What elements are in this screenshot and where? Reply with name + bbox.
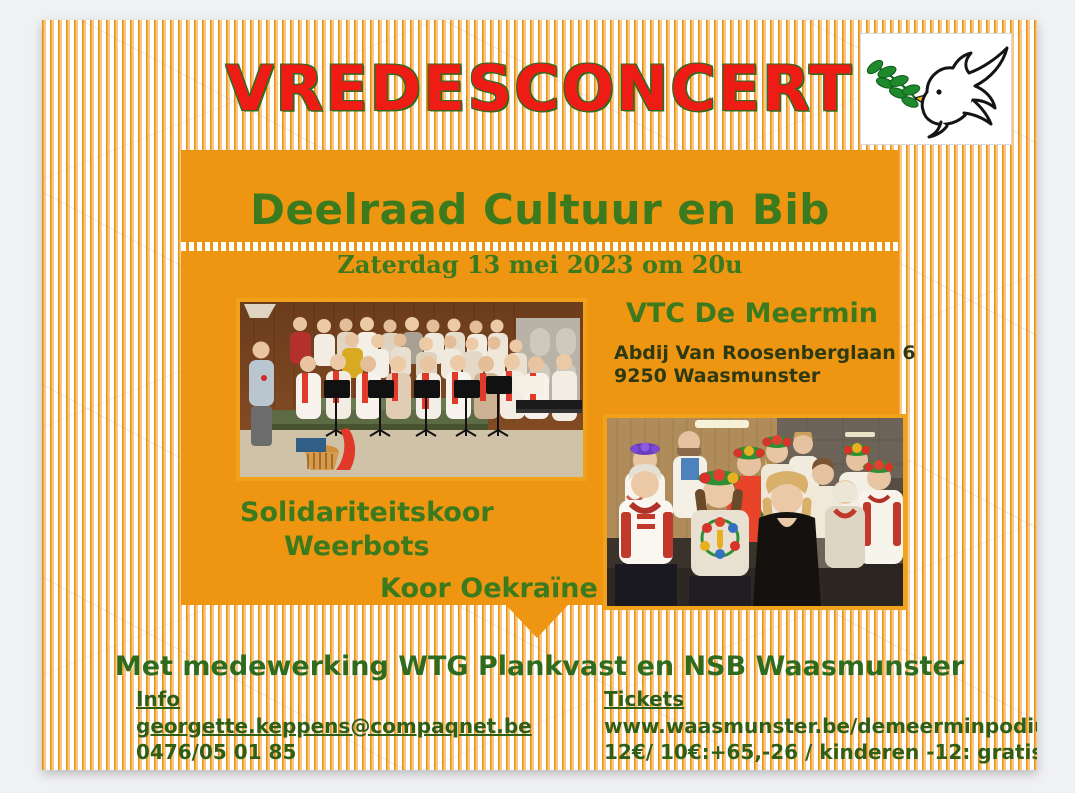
collaboration-credit: Met medewerking WTG Plankvast en NSB Waa…: [42, 651, 1037, 682]
choir1-line1: Solidariteitskoor: [240, 497, 494, 528]
peace-dove-icon: [860, 33, 1012, 145]
tickets-prices: 12€/ 10€:+65,-26 / kinderen -12: gratis: [604, 739, 1037, 766]
info-block: Info georgette.keppens@compaqnet.be 0476…: [136, 686, 532, 766]
koor-oekraine-photo: [603, 414, 907, 610]
info-email-link[interactable]: georgette.keppens@compaqnet.be: [136, 713, 532, 740]
event-datetime: Zaterdag 13 mei 2023 om 20u: [181, 250, 899, 279]
tickets-url-link[interactable]: www.waasmunster.be/demeerminpodium: [604, 713, 1037, 740]
info-heading: Info: [136, 686, 532, 713]
choir-oekraine: Koor Oekraïne: [380, 573, 598, 604]
choir1-line2: Weerbots: [240, 530, 494, 564]
solidariteitskoor-photo: [236, 298, 587, 481]
venue-address-line1: Abdij Van Roosenberglaan 6: [614, 342, 916, 364]
choir-solidariteitskoor: Solidariteitskoor Weerbots: [240, 496, 494, 564]
venue-address: Abdij Van Roosenberglaan 6 9250 Waasmuns…: [614, 342, 924, 389]
organizer-heading: Deelraad Cultuur en Bib: [181, 185, 899, 234]
tickets-heading: Tickets: [604, 686, 1037, 713]
panel-tail-triangle: [506, 605, 568, 638]
tickets-block: Tickets www.waasmunster.be/demeerminpodi…: [604, 686, 1037, 766]
info-phone: 0476/05 01 85: [136, 739, 532, 766]
venue-name: VTC De Meermin: [602, 298, 902, 329]
venue-address-line2: 9250 Waasmunster: [614, 365, 820, 387]
poster-canvas: VREDESCONCERT: [42, 20, 1037, 770]
